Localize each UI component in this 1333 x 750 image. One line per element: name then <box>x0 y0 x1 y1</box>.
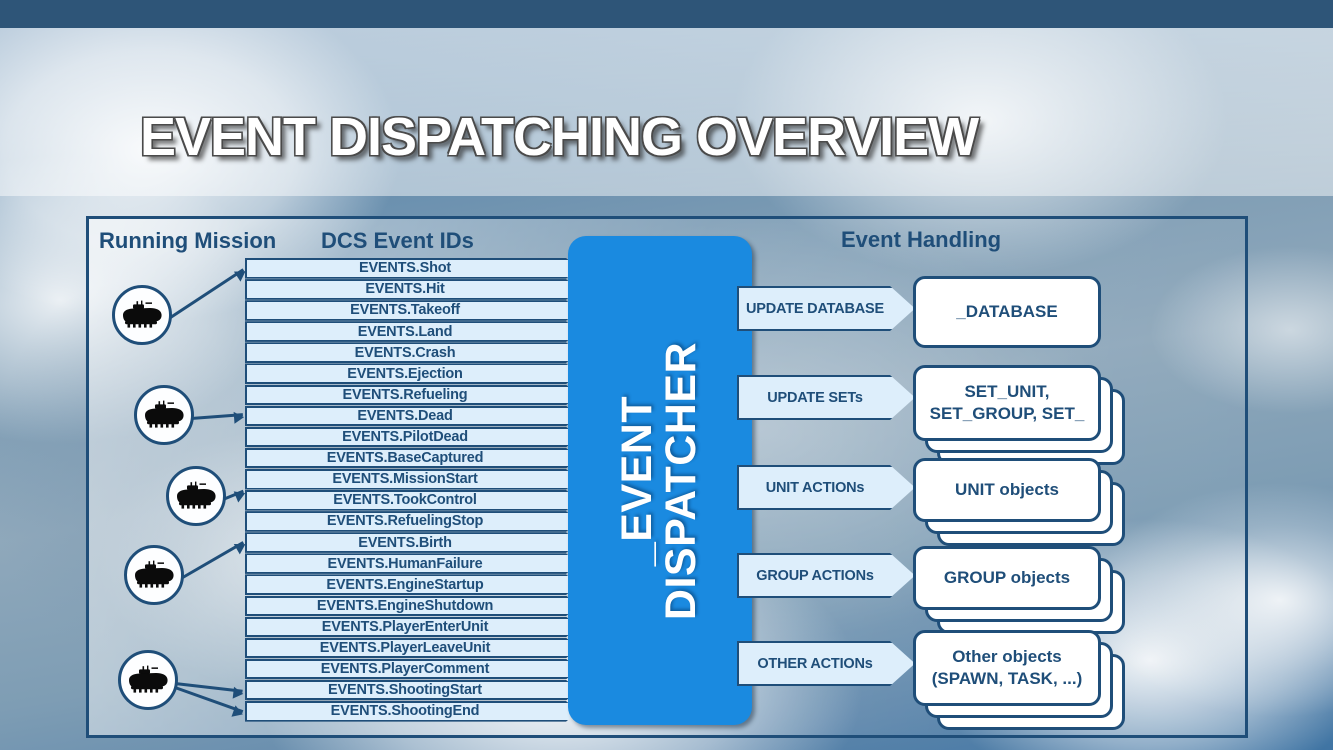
event-id-label: EVENTS.BaseCaptured <box>245 448 565 469</box>
event-id-row[interactable]: EVENTS.PilotDead <box>245 427 579 448</box>
event-id-label: EVENTS.Birth <box>245 532 565 553</box>
event-id-label: EVENTS.ShootingStart <box>245 680 565 701</box>
event-id-list: EVENTS.ShotEVENTS.HitEVENTS.TakeoffEVENT… <box>245 258 579 722</box>
event-id-label: EVENTS.Land <box>245 321 565 342</box>
event-id-label: EVENTS.PlayerLeaveUnit <box>245 638 565 659</box>
handling-action-arrow[interactable]: UPDATE SETs <box>737 375 915 420</box>
event-id-label: EVENTS.PlayerComment <box>245 659 565 680</box>
slide-canvas: EVENT DISPATCHING OVERVIEW Running Missi… <box>0 0 1333 750</box>
handling-object-label-line1: GROUP objects <box>944 567 1070 589</box>
handling-action-label: OTHER ACTIONs <box>757 656 894 672</box>
event-id-row[interactable]: EVENTS.ShootingStart <box>245 680 579 701</box>
column-header-dcs-event-ids: DCS Event IDs <box>321 228 474 254</box>
handling-object-label-line1: UNIT objects <box>955 479 1059 501</box>
handling-action-label: GROUP ACTIONs <box>756 568 895 584</box>
handling-object-label: SET_UNIT,SET_GROUP, SET_ <box>930 381 1085 425</box>
event-id-row[interactable]: EVENTS.Crash <box>245 342 579 363</box>
tank-unit-2[interactable] <box>134 385 194 445</box>
event-id-row[interactable]: EVENTS.PlayerLeaveUnit <box>245 638 579 659</box>
event-id-row[interactable]: EVENTS.BaseCaptured <box>245 448 579 469</box>
event-id-label: EVENTS.EngineShutdown <box>245 596 565 617</box>
handling-object-label: GROUP objects <box>944 567 1070 589</box>
event-id-label: EVENTS.Crash <box>245 342 565 363</box>
handling-object-label-line1: Other objects <box>932 646 1082 668</box>
handling-action-label: UPDATE DATABASE <box>746 301 906 317</box>
tank-icon <box>120 300 164 330</box>
tank-unit-3[interactable] <box>166 466 226 526</box>
handling-action-arrow[interactable]: OTHER ACTIONs <box>737 641 915 686</box>
event-id-row[interactable]: EVENTS.Ejection <box>245 363 579 384</box>
handling-object-stack: _DATABASE <box>913 276 1127 374</box>
event-id-label: EVENTS.HumanFailure <box>245 553 565 574</box>
tank-unit-5[interactable] <box>118 650 178 710</box>
column-header-running-mission: Running Mission <box>99 228 276 254</box>
page-title: EVENT DISPATCHING OVERVIEW <box>140 106 978 168</box>
handling-action-arrow[interactable]: GROUP ACTIONs <box>737 553 915 598</box>
event-id-row[interactable]: EVENTS.ShootingEnd <box>245 701 579 722</box>
event-id-label: EVENTS.RefuelingStop <box>245 511 565 532</box>
event-id-row[interactable]: EVENTS.PlayerComment <box>245 659 579 680</box>
event-id-label: EVENTS.MissionStart <box>245 469 565 490</box>
title-banner: EVENT DISPATCHING OVERVIEW <box>0 28 1333 196</box>
column-header-event-handling: Event Handling <box>841 227 1001 253</box>
event-id-row[interactable]: EVENTS.MissionStart <box>245 469 579 490</box>
handling-object-stack: UNIT objects <box>913 458 1127 548</box>
event-id-label: EVENTS.Shot <box>245 258 565 279</box>
event-dispatcher-label: _EVENT DISPATCHER <box>616 341 704 619</box>
event-id-row[interactable]: EVENTS.EngineShutdown <box>245 596 579 617</box>
event-id-label: EVENTS.Hit <box>245 279 565 300</box>
handling-object-box[interactable]: GROUP objects <box>913 546 1101 610</box>
handling-object-stack: Other objects(SPAWN, TASK, ...) <box>913 630 1127 732</box>
handling-action-label: UNIT ACTIONs <box>766 480 887 496</box>
handling-object-box[interactable]: UNIT objects <box>913 458 1101 522</box>
event-id-label: EVENTS.TookControl <box>245 490 565 511</box>
event-id-label: EVENTS.EngineStartup <box>245 574 565 595</box>
event-id-row[interactable]: EVENTS.PlayerEnterUnit <box>245 617 579 638</box>
event-id-label: EVENTS.Dead <box>245 406 565 427</box>
top-accent-bar <box>0 0 1333 28</box>
event-id-label: EVENTS.PilotDead <box>245 427 565 448</box>
dispatcher-label-line1: _EVENT <box>616 341 660 619</box>
tank-icon <box>126 665 170 695</box>
event-dispatcher-block[interactable]: _EVENT DISPATCHER <box>568 236 752 725</box>
tank-icon <box>142 400 186 430</box>
event-id-row[interactable]: EVENTS.TookControl <box>245 490 579 511</box>
event-id-row[interactable]: EVENTS.Refueling <box>245 385 579 406</box>
event-id-row[interactable]: EVENTS.EngineStartup <box>245 574 579 595</box>
tank-unit-4[interactable] <box>124 545 184 605</box>
event-id-row[interactable]: EVENTS.Hit <box>245 279 579 300</box>
dispatcher-label-line2: DISPATCHER <box>660 341 704 619</box>
event-id-row[interactable]: EVENTS.Shot <box>245 258 579 279</box>
event-id-row[interactable]: EVENTS.Birth <box>245 532 579 553</box>
handling-object-label: Other objects(SPAWN, TASK, ...) <box>932 646 1082 690</box>
handling-action-arrow[interactable]: UNIT ACTIONs <box>737 465 915 510</box>
event-id-row[interactable]: EVENTS.HumanFailure <box>245 553 579 574</box>
handling-object-box[interactable]: SET_UNIT,SET_GROUP, SET_ <box>913 365 1101 441</box>
handling-object-label-line2: (SPAWN, TASK, ...) <box>932 668 1082 690</box>
handling-action-label: UPDATE SETs <box>767 390 885 406</box>
handling-object-stack: GROUP objects <box>913 546 1127 636</box>
handling-object-label: UNIT objects <box>955 479 1059 501</box>
event-id-label: EVENTS.Takeoff <box>245 300 565 321</box>
event-id-row[interactable]: EVENTS.RefuelingStop <box>245 511 579 532</box>
event-id-label: EVENTS.Refueling <box>245 385 565 406</box>
handling-object-stack: SET_UNIT,SET_GROUP, SET_ <box>913 365 1127 467</box>
handling-action-arrow[interactable]: UPDATE DATABASE <box>737 286 915 331</box>
tank-icon <box>174 481 218 511</box>
tank-unit-1[interactable] <box>112 285 172 345</box>
event-id-label: EVENTS.PlayerEnterUnit <box>245 617 565 638</box>
event-id-row[interactable]: EVENTS.Takeoff <box>245 300 579 321</box>
handling-object-box[interactable]: _DATABASE <box>913 276 1101 348</box>
tank-icon <box>132 560 176 590</box>
handling-object-label-line1: _DATABASE <box>956 301 1057 323</box>
event-id-label: EVENTS.Ejection <box>245 363 565 384</box>
handling-object-label-line1: SET_UNIT, <box>930 381 1085 403</box>
event-id-row[interactable]: EVENTS.Dead <box>245 406 579 427</box>
handling-object-box[interactable]: Other objects(SPAWN, TASK, ...) <box>913 630 1101 706</box>
event-id-label: EVENTS.ShootingEnd <box>245 701 565 722</box>
event-id-row[interactable]: EVENTS.Land <box>245 321 579 342</box>
handling-object-label-line2: SET_GROUP, SET_ <box>930 403 1085 425</box>
handling-object-label: _DATABASE <box>956 301 1057 323</box>
